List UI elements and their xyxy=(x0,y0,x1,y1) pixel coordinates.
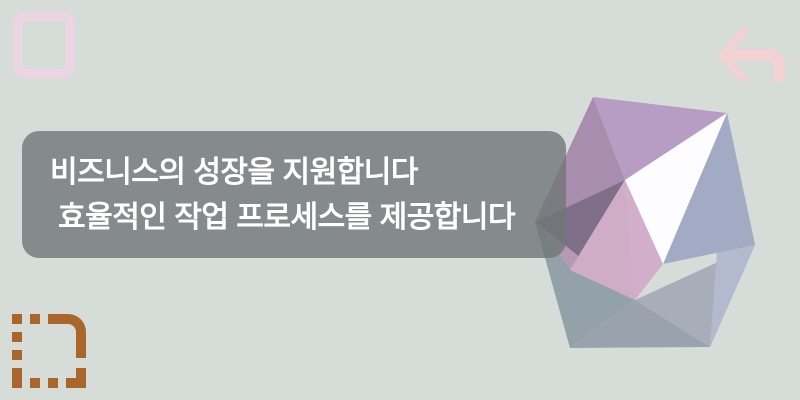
hero-banner-canvas: 비즈니스의 성장을 지원합니다 효율적인 작업 프로세스를 제공합니다 xyxy=(0,0,800,400)
poly-facet-right-edge xyxy=(710,113,755,347)
poly-facet-top-mid xyxy=(593,97,727,180)
dashed-corner-square-icon xyxy=(12,314,86,388)
poly-facet-top-white xyxy=(625,113,727,264)
message-banner: 비즈니스의 성장을 지원합니다 효율적인 작업 프로세스를 제공합니다 xyxy=(22,131,566,258)
rounded-square-outline-icon xyxy=(13,12,75,78)
poly-facet-bottom-mid xyxy=(570,300,710,348)
poly-facet-lower-pink xyxy=(625,180,663,300)
reply-arrow-icon xyxy=(715,20,793,90)
poly-facet-bottom-right xyxy=(635,245,755,347)
banner-headline-line-2: 효율적인 작업 프로세스를 제공합니다 xyxy=(50,195,566,240)
poly-facet-right xyxy=(663,113,755,264)
poly-facet-center-pink xyxy=(570,180,635,300)
banner-headline-line-1: 비즈니스의 성장을 지원합니다 xyxy=(50,150,566,195)
